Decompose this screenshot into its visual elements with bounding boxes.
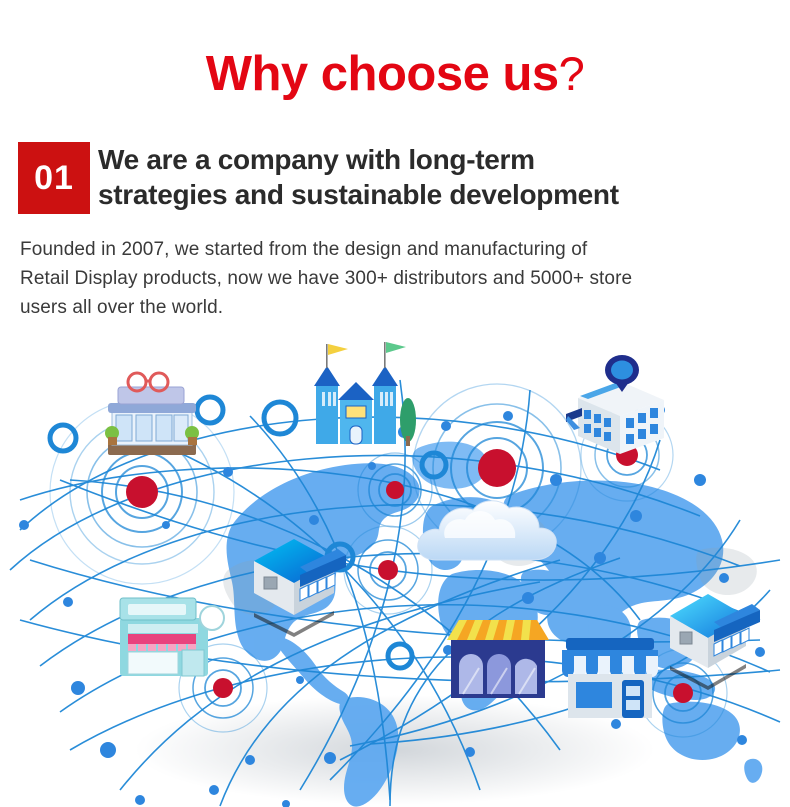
- page-root: Why choose us? 01 We are a company with …: [0, 0, 790, 807]
- section-paragraph-line-1: Founded in 2007, we started from the des…: [20, 236, 760, 265]
- section-headline: We are a company with long-term strategi…: [98, 142, 698, 212]
- section-headline-line-2: strategies and sustainable development: [98, 177, 698, 212]
- section-paragraph-line-3: users all over the world.: [20, 294, 760, 323]
- red-node: [386, 481, 404, 499]
- bank-building-icon: [566, 355, 664, 454]
- red-node: [378, 560, 398, 580]
- landmass-central-america: [277, 637, 349, 704]
- red-node: [478, 449, 516, 487]
- red-node: [126, 476, 158, 508]
- page-title-question-mark: ?: [559, 47, 585, 100]
- section-paragraph: Founded in 2007, we started from the des…: [20, 236, 760, 323]
- market-stall-yellow-awning-icon: [447, 620, 549, 698]
- page-title: Why choose us?: [0, 50, 790, 99]
- landmass-new-zealand: [744, 759, 762, 783]
- section-number-label: 01: [34, 159, 74, 198]
- global-network-illustration: [0, 320, 790, 807]
- optician-store-icon: [105, 373, 199, 455]
- red-node: [673, 683, 693, 703]
- section-headline-line-1: We are a company with long-term: [98, 144, 535, 175]
- section-paragraph-line-2: Retail Display products, now we have 300…: [20, 265, 760, 294]
- pharmacy-store-icon: [120, 598, 224, 676]
- isometric-shop-blue-icon: [254, 539, 346, 637]
- red-node: [213, 678, 233, 698]
- landmass-australia: [662, 702, 740, 760]
- page-title-text: Why choose us: [206, 47, 559, 101]
- storefront-blue-awning-icon: [562, 638, 658, 718]
- section-number-badge: 01: [18, 142, 90, 214]
